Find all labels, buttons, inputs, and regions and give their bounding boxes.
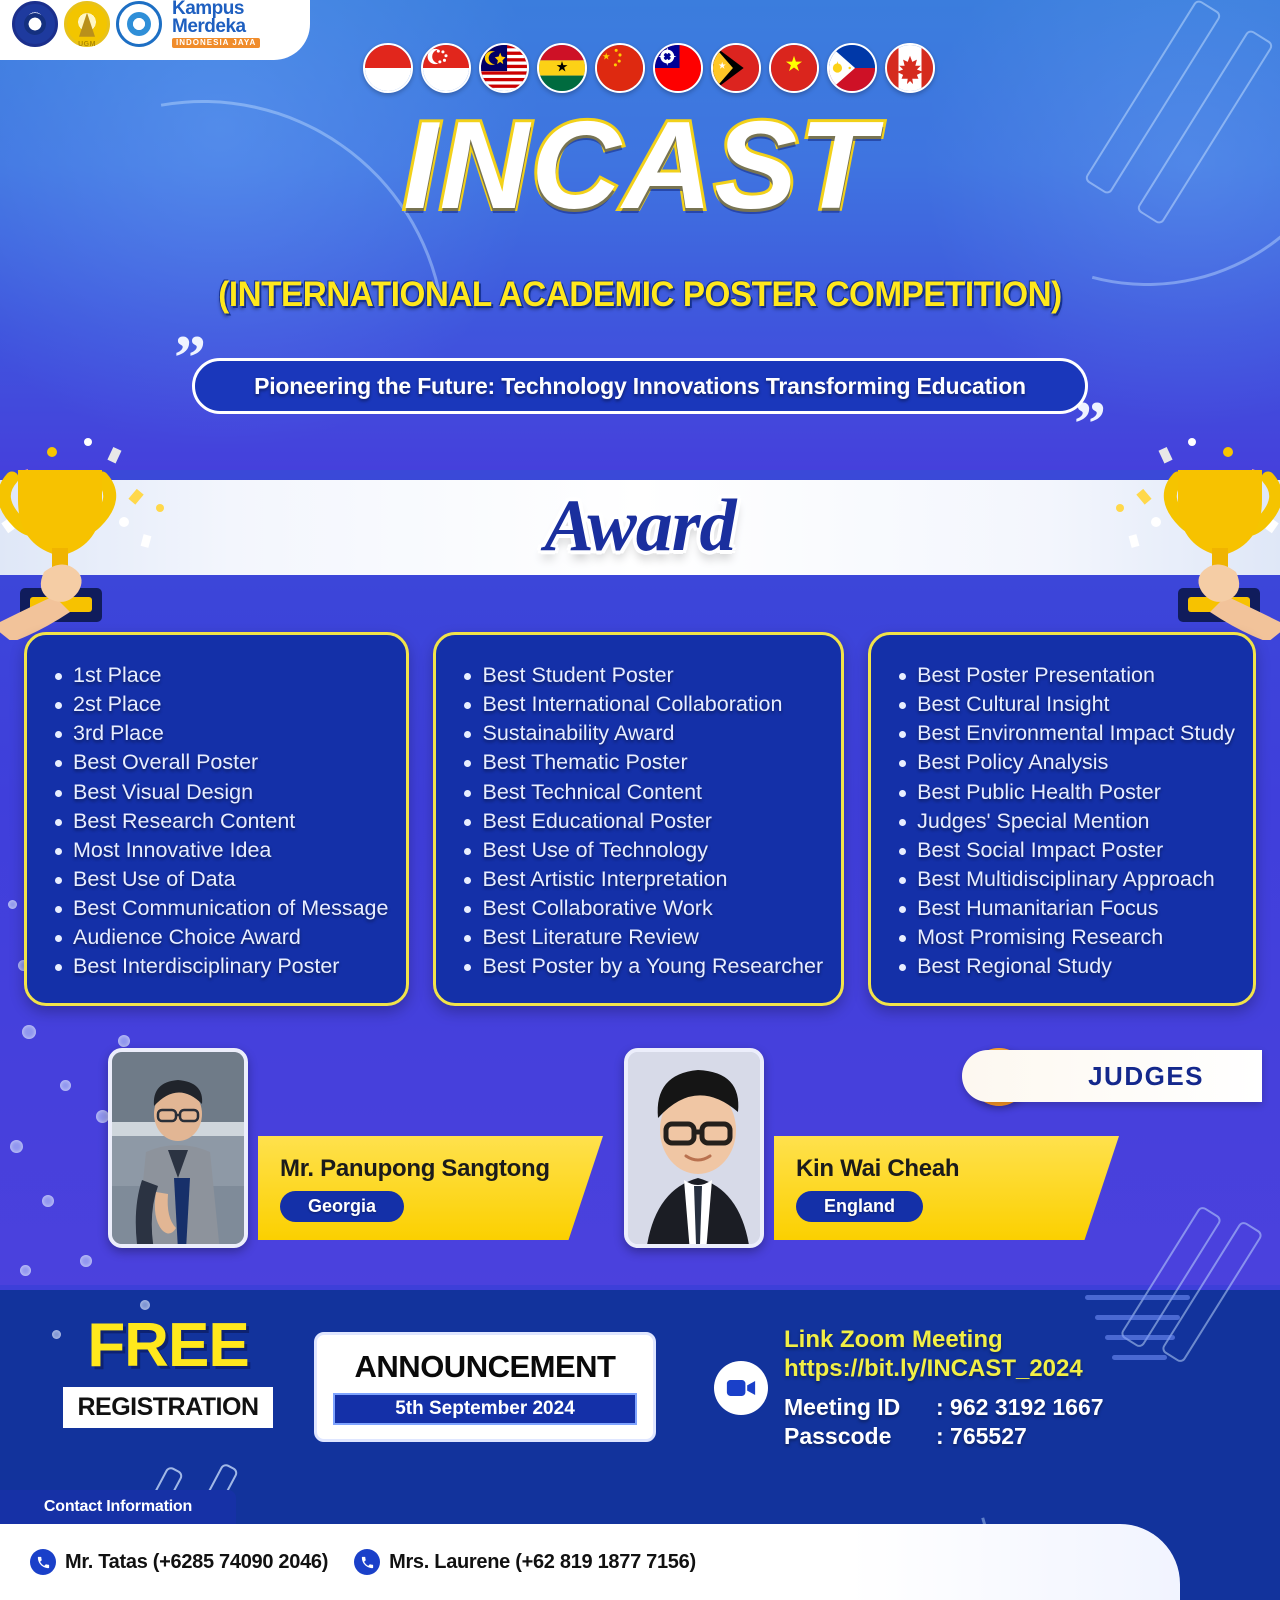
award-item: Best International Collaboration [482,690,823,719]
judge-country-2: England [796,1191,923,1222]
announcement-title: ANNOUNCEMENT [355,1349,616,1385]
decorative-dot [8,900,17,909]
judge-name-1: Mr. Panupong Sangtong [280,1155,603,1183]
award-item: 1st Place [73,661,388,690]
trophy-icon-left [0,430,222,640]
award-column-2: Best Student PosterBest International Co… [433,632,844,1006]
announcement-box: ANNOUNCEMENT 5th September 2024 [314,1332,656,1442]
judge-nameplate-2: Kin Wai Cheah England [774,1136,1119,1240]
page-title: INCAST [0,104,1280,228]
award-item: Best Humanitarian Focus [917,894,1235,923]
award-item: Best Poster by a Young Researcher [482,952,823,981]
award-item: Best Policy Analysis [917,748,1235,777]
announcement-date: 5th September 2024 [333,1393,637,1425]
award-item: Best Technical Content [482,778,823,807]
flag-timor-leste-icon [711,43,761,93]
kampus-merdeka-logo: Kampus Merdeka INDONESIA JAYA [172,0,260,47]
award-item: Best Interdisciplinary Poster [73,952,388,981]
free-label: FREE [58,1315,278,1377]
zoom-meeting-details: Link Zoom Meeting https://bit.ly/INCAST_… [784,1325,1104,1450]
judge-country-1: Georgia [280,1191,404,1222]
tagline-text: Pioneering the Future: Technology Innova… [192,358,1088,414]
passcode-value: : 765527 [936,1423,1027,1450]
award-item: Best Regional Study [917,952,1235,981]
award-item: Best Overall Poster [73,748,388,777]
video-camera-icon [714,1361,768,1415]
zoom-link-label: Link Zoom Meeting [784,1325,1104,1354]
award-item: Best Use of Technology [482,836,823,865]
award-item: Judges' Special Mention [917,807,1235,836]
contact-text: Mr. Tatas (+6285 74090 2046) [65,1551,328,1574]
decorative-dot [42,1195,54,1207]
award-item: Best Collaborative Work [482,894,823,923]
passcode-row: Passcode : 765527 [784,1423,1104,1450]
free-registration-block: FREE REGISTRATION [58,1315,278,1428]
decorative-dot [10,1140,23,1153]
kampus-merdeka-tagline: INDONESIA JAYA [172,38,260,47]
decorative-line-4 [1112,1355,1167,1360]
award-item: Best Use of Data [73,865,388,894]
tagline-block: ” ” Pioneering the Future: Technology In… [160,338,1120,410]
flag-malaysia-icon [479,43,529,93]
award-item: Best Cultural Insight [917,690,1235,719]
page-subtitle: (INTERNATIONAL ACADEMIC POSTER COMPETITI… [32,275,1248,315]
award-item: Best Environmental Impact Study [917,719,1235,748]
kampus-merdeka-line2: Merdeka [172,18,260,35]
decorative-line-2 [1095,1315,1180,1320]
judges-badge: JUDGES [962,1050,1262,1102]
award-item: Most Promising Research [917,923,1235,952]
award-item: Best Social Impact Poster [917,836,1235,865]
decorative-dot [20,1265,31,1276]
registration-label: REGISTRATION [63,1387,272,1428]
award-item: Best Artistic Interpretation [482,865,823,894]
decorative-line-3 [1105,1335,1175,1340]
flag-vietnam-icon [769,43,819,93]
award-list: Best Poster PresentationBest Cultural In… [889,661,1235,981]
award-item: Best Educational Poster [482,807,823,836]
award-list: Best Student PosterBest International Co… [454,661,823,981]
phone-icon [30,1549,56,1575]
award-column-3: Best Poster PresentationBest Cultural In… [868,632,1256,1006]
meeting-id-label: Meeting ID [784,1394,936,1421]
award-item: Best Student Poster [482,661,823,690]
award-item: Best Visual Design [73,778,388,807]
award-item: Best Thematic Poster [482,748,823,777]
contact-bar: Mr. Tatas (+6285 74090 2046)Mrs. Laurene… [0,1524,1180,1600]
flag-singapore-icon [421,43,471,93]
flag-china-icon [595,43,645,93]
award-columns: 1st Place2st Place3rd PlaceBest Overall … [24,632,1256,1006]
contact-text: Mrs. Laurene (+62 819 1877 7156) [389,1551,696,1574]
poster-root: UGM Kampus Merdeka INDONESIA JAYA INCAST… [0,0,1280,1600]
decorative-dot [118,1035,130,1047]
institution-logos: UGM Kampus Merdeka INDONESIA JAYA [0,0,310,60]
award-item: 3rd Place [73,719,388,748]
decorative-dot [140,1300,150,1310]
decorative-dot [60,1080,71,1091]
ministry-tutwuri-logo [116,1,162,47]
award-list: 1st Place2st Place3rd PlaceBest Overall … [45,661,388,981]
contact-person-2: Mrs. Laurene (+62 819 1877 7156) [354,1549,696,1575]
judge-photo-1 [108,1048,248,1248]
award-item: 2st Place [73,690,388,719]
judge-name-2: Kin Wai Cheah [796,1155,1119,1183]
zoom-link-url[interactable]: https://bit.ly/INCAST_2024 [784,1354,1104,1383]
gold-institution-logo: UGM [64,1,110,47]
phone-icon [354,1549,380,1575]
contact-information-tab: Contact Information [0,1490,236,1524]
decorative-line-1 [1085,1295,1190,1300]
flag-philippines-icon [827,43,877,93]
decorative-dot [80,1255,92,1267]
award-column-1: 1st Place2st Place3rd PlaceBest Overall … [24,632,409,1006]
award-item: Sustainability Award [482,719,823,748]
passcode-label: Passcode [784,1423,936,1450]
judge-nameplate-1: Mr. Panupong Sangtong Georgia [258,1136,603,1240]
university-seal-logo [12,1,58,47]
contact-person-1: Mr. Tatas (+6285 74090 2046) [30,1549,328,1575]
meeting-id-row: Meeting ID : 962 3192 1667 [784,1394,1104,1421]
zoom-meeting-block: Link Zoom Meeting https://bit.ly/INCAST_… [714,1325,1104,1450]
flag-indonesia-icon [363,43,413,93]
award-item: Best Literature Review [482,923,823,952]
award-item: Best Public Health Poster [917,778,1235,807]
award-item: Most Innovative Idea [73,836,388,865]
award-item: Best Research Content [73,807,388,836]
award-item: Best Multidisciplinary Approach [917,865,1235,894]
judge-photo-2 [624,1048,764,1248]
flag-ghana-icon [537,43,587,93]
decorative-dot [22,1025,36,1039]
meeting-id-value: : 962 3192 1667 [936,1394,1104,1421]
award-item: Audience Choice Award [73,923,388,952]
award-item: Best Poster Presentation [917,661,1235,690]
award-item: Best Communication of Message [73,894,388,923]
flag-taiwan-icon [653,43,703,93]
flag-canada-icon [885,43,935,93]
trophy-icon-right [1058,430,1280,640]
country-flags [363,43,935,93]
